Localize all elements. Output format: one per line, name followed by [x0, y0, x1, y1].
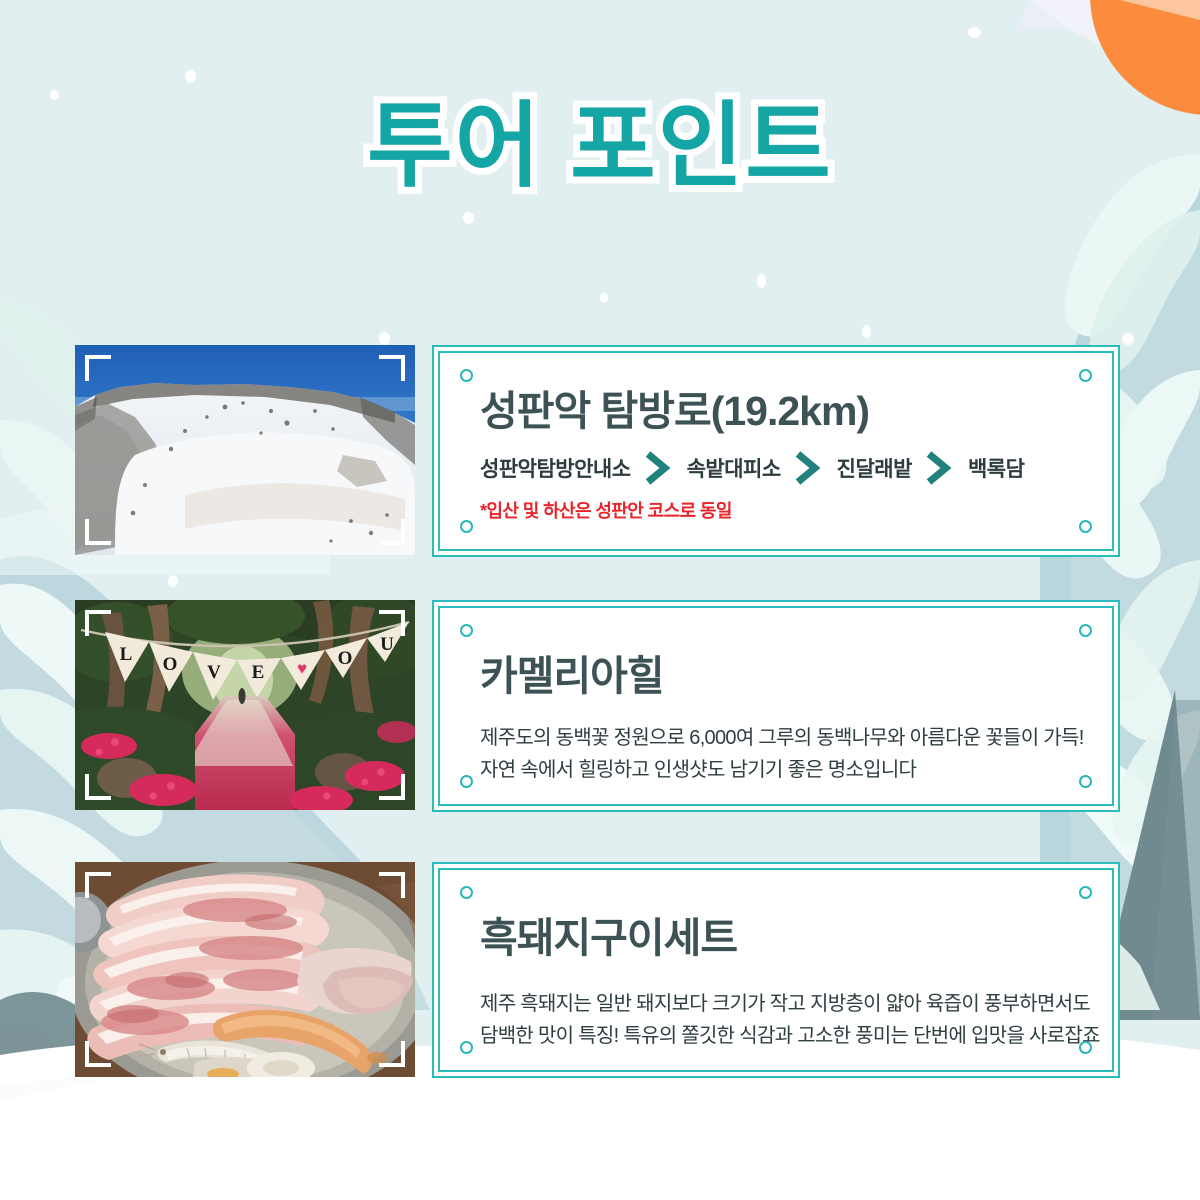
snow-dot	[185, 70, 196, 83]
tour-point-card-3[interactable]: 흑돼지구이세트 제주 흑돼지는 일반 돼지보다 크기가 작고 지방층이 얇아 육…	[432, 862, 1120, 1078]
description-line: 담백한 맛이 특징! 특유의 쫄깃한 식감과 고소한 풍미는 단번에 입맛을 사…	[480, 1020, 1078, 1052]
snow-dot	[379, 332, 390, 345]
photo-corner-bracket-icon	[379, 355, 405, 381]
black-pork-grill-set-photo[interactable]	[75, 862, 415, 1077]
svg-text:L: L	[120, 644, 133, 665]
route-step: 백록담	[968, 453, 1024, 483]
snow-dot	[600, 293, 608, 303]
snow-dot	[862, 325, 871, 338]
card-inner-border: 성판악 탐방로(19.2km) 성판악탐방안내소 속밭대피소 진달래밭 백록담 …	[438, 351, 1114, 551]
snow-dot	[757, 274, 766, 288]
page-title-wrap: 투어 포인트	[0, 96, 1200, 196]
photo-corner-bracket-icon	[85, 355, 111, 381]
card-corner-circle-icon	[1079, 775, 1092, 788]
photo-corner-bracket-icon	[379, 872, 405, 898]
card-corner-circle-icon	[1079, 624, 1092, 637]
svg-text:U: U	[380, 634, 394, 655]
tour-point-card-2[interactable]: 카멜리아힐 제주도의 동백꽃 정원으로 6,000여 그루의 동백나무와 아름다…	[432, 600, 1120, 812]
card-corner-circle-icon	[460, 886, 473, 899]
photo-corner-bracket-icon	[379, 610, 405, 636]
photo-image	[75, 345, 415, 555]
chevron-right-icon	[631, 451, 687, 485]
photo-corner-bracket-icon	[379, 774, 405, 800]
svg-text:O: O	[338, 648, 353, 669]
description-line: 제주 흑돼지는 일반 돼지보다 크기가 작고 지방층이 얇아 육즙이 풍부하면서…	[480, 988, 1078, 1020]
card-title: 카멜리아힐	[480, 654, 1078, 700]
svg-text:♥: ♥	[297, 659, 307, 678]
photo-corner-bracket-icon	[379, 519, 405, 545]
card-corner-circle-icon	[460, 520, 473, 533]
route-step: 성판악탐방안내소	[480, 453, 631, 483]
photo-corner-bracket-icon	[85, 610, 111, 636]
card-corner-circle-icon	[1079, 1041, 1092, 1054]
card-corner-circle-icon	[1079, 520, 1092, 533]
description-line: 자연 속에서 힐링하고 인생샷도 남기기 좋은 명소입니다	[480, 754, 1078, 786]
page-title: 투어 포인트	[367, 96, 833, 196]
svg-text:O: O	[163, 654, 178, 675]
hallasan-snow-crater-photo[interactable]	[75, 345, 415, 555]
photo-corner-bracket-icon	[379, 1041, 405, 1067]
svg-text:E: E	[252, 662, 265, 683]
route-step: 진달래밭	[837, 453, 912, 483]
card-corner-circle-icon	[460, 775, 473, 788]
card-description: 제주도의 동백꽃 정원으로 6,000여 그루의 동백나무와 아름다운 꽃들이 …	[480, 722, 1078, 787]
snow-dot	[168, 575, 178, 587]
photo-corner-bracket-icon	[85, 774, 111, 800]
card-description: 제주 흑돼지는 일반 돼지보다 크기가 작고 지방층이 얇아 육즙이 풍부하면서…	[480, 988, 1078, 1053]
photo-corner-bracket-icon	[85, 872, 111, 898]
snow-dot	[463, 212, 474, 224]
chevron-right-icon	[781, 451, 837, 485]
snow-dot	[1122, 333, 1134, 345]
card-corner-circle-icon	[1079, 886, 1092, 899]
card-inner-border: 카멜리아힐 제주도의 동백꽃 정원으로 6,000여 그루의 동백나무와 아름다…	[438, 606, 1114, 806]
chevron-right-icon	[912, 451, 968, 485]
card-title: 성판악 탐방로(19.2km)	[480, 389, 1078, 435]
photo-corner-bracket-icon	[85, 1041, 111, 1067]
card-title: 흑돼지구이세트	[480, 916, 1078, 962]
description-line: 제주도의 동백꽃 정원으로 6,000여 그루의 동백나무와 아름다운 꽃들이 …	[480, 722, 1078, 754]
route-step: 속밭대피소	[687, 453, 781, 483]
photo-image	[75, 862, 415, 1077]
snow-dot	[968, 27, 981, 38]
route-steps: 성판악탐방안내소 속밭대피소 진달래밭 백록담	[480, 451, 1078, 485]
card-corner-circle-icon	[1079, 369, 1092, 382]
card-corner-circle-icon	[460, 369, 473, 382]
tour-point-card-1[interactable]: 성판악 탐방로(19.2km) 성판악탐방안내소 속밭대피소 진달래밭 백록담 …	[432, 345, 1120, 557]
route-note: *입산 및 하산은 성판안 코스로 동일	[480, 497, 1078, 523]
photo-corner-bracket-icon	[85, 519, 111, 545]
photo-image: L O V E O U ♥	[75, 600, 415, 810]
camellia-hill-garden-photo[interactable]: L O V E O U ♥	[75, 600, 415, 810]
card-corner-circle-icon	[460, 1041, 473, 1054]
card-inner-border: 흑돼지구이세트 제주 흑돼지는 일반 돼지보다 크기가 작고 지방층이 얇아 육…	[438, 868, 1114, 1072]
card-corner-circle-icon	[460, 624, 473, 637]
svg-text:V: V	[207, 662, 221, 683]
